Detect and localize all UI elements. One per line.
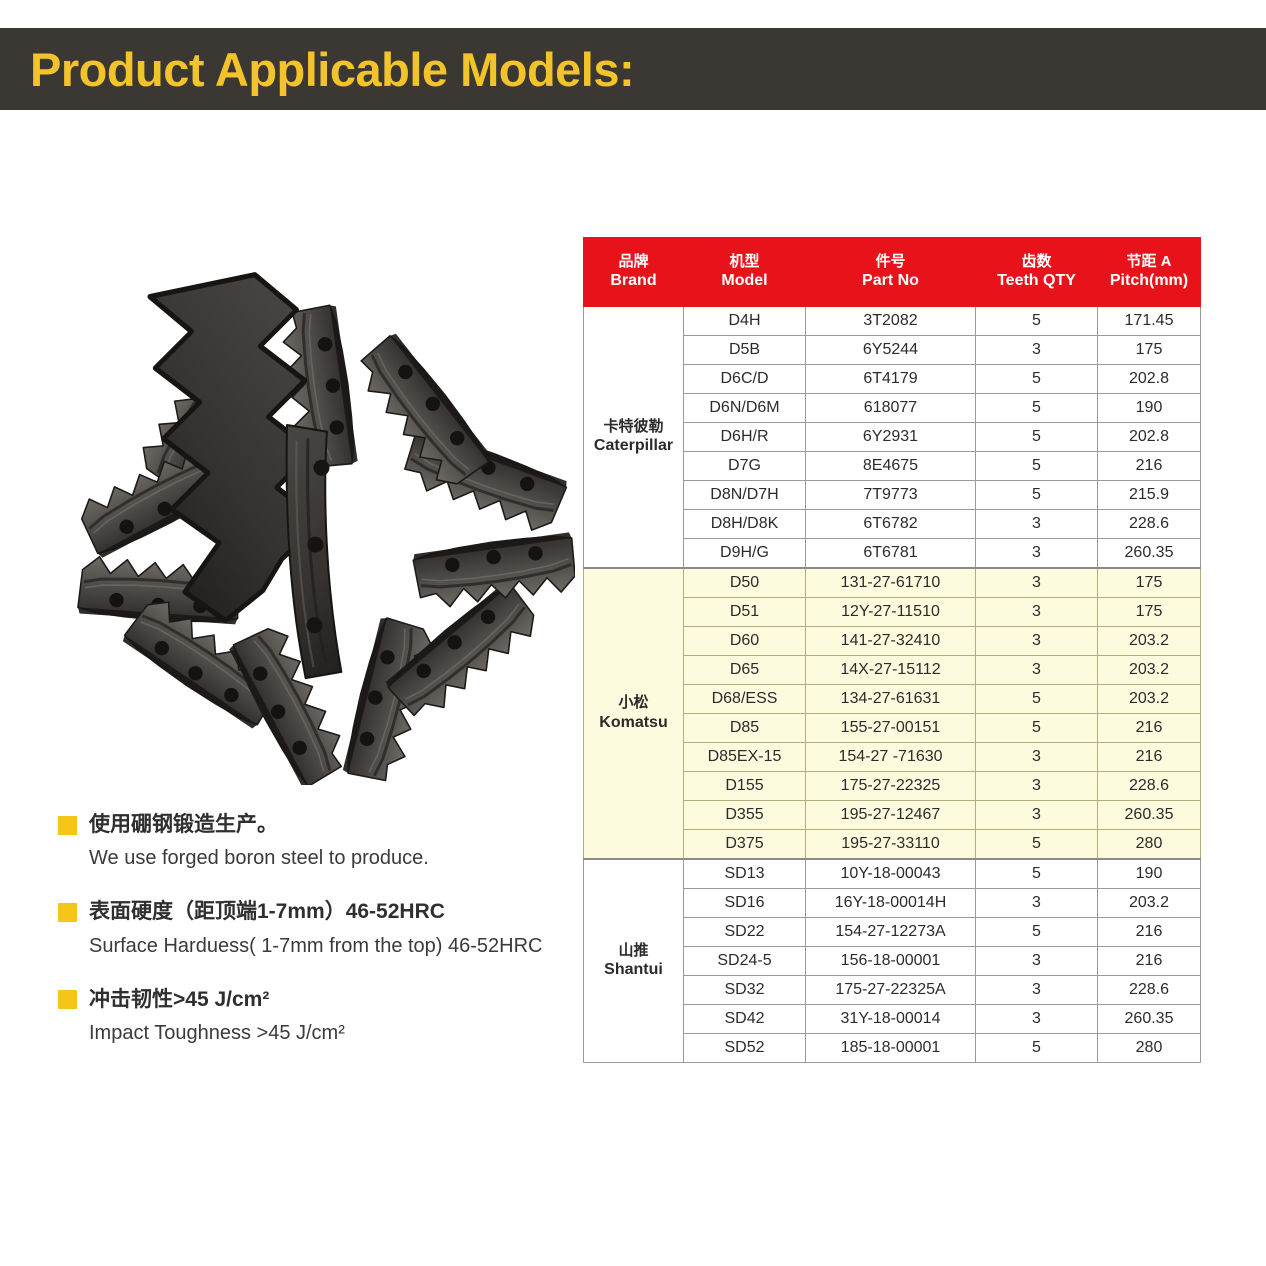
model-cell: D6H/R <box>684 423 806 452</box>
model-cell: SD32 <box>684 976 806 1005</box>
teeth-qty-cell: 3 <box>976 976 1098 1005</box>
teeth-qty-cell: 3 <box>976 743 1098 772</box>
teeth-qty-cell: 3 <box>976 539 1098 569</box>
part-no-cell: 8E4675 <box>806 452 976 481</box>
feature-item: 使用硼钢锻造生产。 We use forged boron steel to p… <box>58 812 588 871</box>
model-cell: D6N/D6M <box>684 394 806 423</box>
pitch-cell: 280 <box>1098 830 1201 860</box>
pitch-cell: 175 <box>1098 598 1201 627</box>
teeth-qty-cell: 3 <box>976 568 1098 598</box>
feature-item: 冲击韧性>45 J/cm² Impact Toughness >45 J/cm² <box>58 987 588 1046</box>
feature-list: 使用硼钢锻造生产。 We use forged boron steel to p… <box>58 812 588 1074</box>
pitch-cell: 203.2 <box>1098 889 1201 918</box>
part-no-cell: 175-27-22325 <box>806 772 976 801</box>
pitch-cell: 216 <box>1098 918 1201 947</box>
table-header-row: 品牌 Brand 机型 Model 件号 Part No 齿数 Teeth QT… <box>584 238 1201 307</box>
feature-text-en: We use forged boron steel to produce. <box>89 845 588 871</box>
teeth-qty-cell: 5 <box>976 714 1098 743</box>
page-title: Product Applicable Models: <box>0 46 634 93</box>
feature-text-cn: 使用硼钢锻造生产。 <box>89 812 278 838</box>
teeth-qty-cell: 5 <box>976 685 1098 714</box>
column-header-pitch: 节距 A Pitch(mm) <box>1098 238 1201 307</box>
part-no-cell: 154-27-12273A <box>806 918 976 947</box>
model-cell: D5B <box>684 336 806 365</box>
pitch-cell: 190 <box>1098 394 1201 423</box>
brand-name-cn: 山推 <box>584 941 683 961</box>
part-no-cell: 185-18-00001 <box>806 1034 976 1063</box>
part-no-cell: 175-27-22325A <box>806 976 976 1005</box>
model-cell: D85EX-15 <box>684 743 806 772</box>
brand-cell: 小松Komatsu <box>584 568 684 859</box>
column-header-brand: 品牌 Brand <box>584 238 684 307</box>
model-cell: D155 <box>684 772 806 801</box>
feature-text-en: Impact Toughness >45 J/cm² <box>89 1020 588 1046</box>
brand-name-en: Komatsu <box>584 713 683 734</box>
pitch-cell: 202.8 <box>1098 365 1201 394</box>
model-cell: D60 <box>684 627 806 656</box>
model-cell: SD13 <box>684 859 806 889</box>
model-cell: SD24-5 <box>684 947 806 976</box>
table-row: 山推ShantuiSD1310Y-18-000435190 <box>584 859 1201 889</box>
pitch-cell: 202.8 <box>1098 423 1201 452</box>
part-no-cell: 618077 <box>806 394 976 423</box>
brand-cell: 卡特彼勒Caterpillar <box>584 307 684 569</box>
part-no-cell: 155-27-00151 <box>806 714 976 743</box>
model-cell: SD42 <box>684 1005 806 1034</box>
part-no-cell: 12Y-27-11510 <box>806 598 976 627</box>
part-no-cell: 141-27-32410 <box>806 627 976 656</box>
pitch-cell: 280 <box>1098 1034 1201 1063</box>
pitch-cell: 215.9 <box>1098 481 1201 510</box>
part-no-cell: 156-18-00001 <box>806 947 976 976</box>
table-row: 小松KomatsuD50131-27-617103175 <box>584 568 1201 598</box>
part-no-cell: 3T2082 <box>806 307 976 336</box>
teeth-qty-cell: 5 <box>976 423 1098 452</box>
pitch-cell: 203.2 <box>1098 656 1201 685</box>
feature-text-en: Surface Harduess( 1-7mm from the top) 46… <box>89 933 588 959</box>
column-header-model: 机型 Model <box>684 238 806 307</box>
model-cell: D65 <box>684 656 806 685</box>
pitch-cell: 203.2 <box>1098 685 1201 714</box>
model-cell: D8H/D8K <box>684 510 806 539</box>
teeth-qty-cell: 5 <box>976 452 1098 481</box>
part-no-cell: 195-27-12467 <box>806 801 976 830</box>
pitch-cell: 228.6 <box>1098 976 1201 1005</box>
teeth-qty-cell: 3 <box>976 1005 1098 1034</box>
teeth-qty-cell: 5 <box>976 481 1098 510</box>
teeth-qty-cell: 5 <box>976 307 1098 336</box>
model-cell: D8N/D7H <box>684 481 806 510</box>
part-no-cell: 6Y2931 <box>806 423 976 452</box>
model-cell: SD52 <box>684 1034 806 1063</box>
part-no-cell: 131-27-61710 <box>806 568 976 598</box>
pitch-cell: 216 <box>1098 947 1201 976</box>
pitch-cell: 216 <box>1098 743 1201 772</box>
bullet-square-icon <box>58 903 77 922</box>
pitch-cell: 228.6 <box>1098 510 1201 539</box>
model-cell: D6C/D <box>684 365 806 394</box>
feature-cn-row: 使用硼钢锻造生产。 <box>58 812 588 838</box>
part-no-cell: 6T6781 <box>806 539 976 569</box>
teeth-qty-cell: 5 <box>976 859 1098 889</box>
teeth-qty-cell: 5 <box>976 918 1098 947</box>
sprocket-segment-ring-image <box>55 195 575 785</box>
part-no-cell: 31Y-18-00014 <box>806 1005 976 1034</box>
pitch-cell: 203.2 <box>1098 627 1201 656</box>
brand-name-cn: 卡特彼勒 <box>584 417 683 437</box>
teeth-qty-cell: 3 <box>976 889 1098 918</box>
bullet-square-icon <box>58 816 77 835</box>
model-cell: D68/ESS <box>684 685 806 714</box>
pitch-cell: 260.35 <box>1098 539 1201 569</box>
teeth-qty-cell: 3 <box>976 598 1098 627</box>
brand-name-cn: 小松 <box>584 693 683 713</box>
model-cell: D4H <box>684 307 806 336</box>
pitch-cell: 175 <box>1098 336 1201 365</box>
teeth-qty-cell: 5 <box>976 1034 1098 1063</box>
teeth-qty-cell: 5 <box>976 365 1098 394</box>
part-no-cell: 134-27-61631 <box>806 685 976 714</box>
pitch-cell: 171.45 <box>1098 307 1201 336</box>
brand-name-en: Caterpillar <box>584 436 683 457</box>
teeth-qty-cell: 3 <box>976 656 1098 685</box>
teeth-qty-cell: 3 <box>976 336 1098 365</box>
part-no-cell: 195-27-33110 <box>806 830 976 860</box>
teeth-qty-cell: 3 <box>976 772 1098 801</box>
teeth-qty-cell: 3 <box>976 947 1098 976</box>
model-cell: SD16 <box>684 889 806 918</box>
brand-name-en: Shantui <box>584 960 683 981</box>
feature-text-cn: 冲击韧性>45 J/cm² <box>89 987 269 1013</box>
part-no-cell: 154-27 -71630 <box>806 743 976 772</box>
model-cell: D375 <box>684 830 806 860</box>
table-body: 卡特彼勒CaterpillarD4H3T20825171.45D5B6Y5244… <box>584 307 1201 1063</box>
column-header-teeth-qty: 齿数 Teeth QTY <box>976 238 1098 307</box>
model-cell: D51 <box>684 598 806 627</box>
model-cell: D7G <box>684 452 806 481</box>
teeth-qty-cell: 5 <box>976 394 1098 423</box>
product-photo <box>55 195 575 785</box>
part-no-cell: 6Y5244 <box>806 336 976 365</box>
title-bar: Product Applicable Models: <box>0 28 1266 110</box>
model-cell: D85 <box>684 714 806 743</box>
teeth-qty-cell: 5 <box>976 830 1098 860</box>
part-no-cell: 10Y-18-00043 <box>806 859 976 889</box>
part-no-cell: 7T9773 <box>806 481 976 510</box>
feature-cn-row: 表面硬度（距顶端1-7mm）46-52HRC <box>58 899 588 925</box>
model-cell: D9H/G <box>684 539 806 569</box>
pitch-cell: 190 <box>1098 859 1201 889</box>
feature-text-cn: 表面硬度（距顶端1-7mm）46-52HRC <box>89 899 445 925</box>
pitch-cell: 175 <box>1098 568 1201 598</box>
teeth-qty-cell: 3 <box>976 510 1098 539</box>
pitch-cell: 216 <box>1098 452 1201 481</box>
model-cell: SD22 <box>684 918 806 947</box>
part-no-cell: 6T6782 <box>806 510 976 539</box>
pitch-cell: 260.35 <box>1098 801 1201 830</box>
column-header-part-no: 件号 Part No <box>806 238 976 307</box>
model-cell: D355 <box>684 801 806 830</box>
bullet-square-icon <box>58 990 77 1009</box>
part-no-cell: 14X-27-15112 <box>806 656 976 685</box>
part-no-cell: 16Y-18-00014H <box>806 889 976 918</box>
table-row: 卡特彼勒CaterpillarD4H3T20825171.45 <box>584 307 1201 336</box>
applicable-models-table: 品牌 Brand 机型 Model 件号 Part No 齿数 Teeth QT… <box>583 237 1200 1063</box>
brand-cell: 山推Shantui <box>584 859 684 1063</box>
pitch-cell: 216 <box>1098 714 1201 743</box>
teeth-qty-cell: 3 <box>976 627 1098 656</box>
model-cell: D50 <box>684 568 806 598</box>
pitch-cell: 260.35 <box>1098 1005 1201 1034</box>
feature-cn-row: 冲击韧性>45 J/cm² <box>58 987 588 1013</box>
part-no-cell: 6T4179 <box>806 365 976 394</box>
teeth-qty-cell: 3 <box>976 801 1098 830</box>
pitch-cell: 228.6 <box>1098 772 1201 801</box>
feature-item: 表面硬度（距顶端1-7mm）46-52HRC Surface Harduess(… <box>58 899 588 958</box>
